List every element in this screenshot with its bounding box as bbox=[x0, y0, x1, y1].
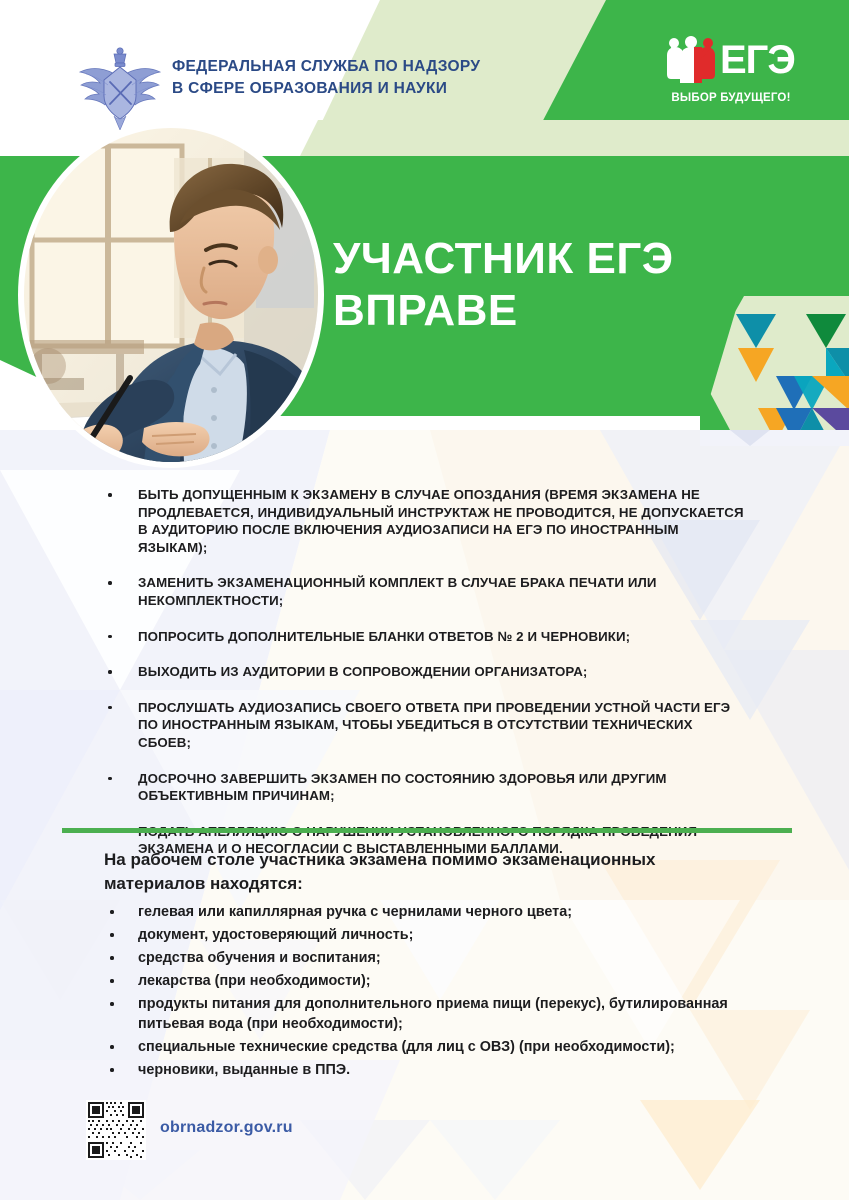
rights-list-item: ПОПРОСИТЬ ДОПОЛНИТЕЛЬНЫЕ БЛАНКИ ОТВЕТОВ … bbox=[104, 628, 744, 646]
triangle-mosaic-decoration bbox=[700, 296, 849, 446]
ege-figures-icon bbox=[665, 35, 717, 85]
ege-logo: ЕГЭ ВЫБОР БУДУЩЕГО! bbox=[665, 32, 797, 110]
desk-list-item: продукты питания для дополнительного при… bbox=[104, 994, 744, 1034]
rights-list-item: ЗАМЕНИТЬ ЭКЗАМЕНАЦИОННЫЙ КОМПЛЕКТ В СЛУЧ… bbox=[104, 574, 744, 609]
rosobrnadzor-emblem-icon bbox=[74, 38, 166, 130]
desk-list-item: черновики, выданные в ППЭ. bbox=[104, 1060, 744, 1080]
desk-list-item: документ, удостоверяющий личность; bbox=[104, 925, 744, 945]
desk-section-heading: На рабочем столе участника экзамена поми… bbox=[104, 848, 724, 896]
qr-code-icon[interactable] bbox=[86, 1100, 146, 1160]
rights-list-item: ДОСРОЧНО ЗАВЕРШИТЬ ЭКЗАМЕН ПО СОСТОЯНИЮ … bbox=[104, 770, 744, 805]
ege-wordmark: ЕГЭ bbox=[720, 40, 795, 80]
desk-list-item: средства обучения и воспитания; bbox=[104, 948, 744, 968]
desk-list-item: лекарства (при необходимости); bbox=[104, 971, 744, 991]
rights-list-item: ПРОСЛУШАТЬ АУДИОЗАПИСЬ СВОЕГО ОТВЕТА ПРИ… bbox=[104, 699, 744, 752]
agency-title: ФЕДЕРАЛЬНАЯ СЛУЖБА ПО НАДЗОРУ В СФЕРЕ ОБ… bbox=[172, 56, 480, 100]
rights-list-item: ВЫХОДИТЬ ИЗ АУДИТОРИИ В СОПРОВОЖДЕНИИ ОР… bbox=[104, 663, 744, 681]
poster-root: ФЕДЕРАЛЬНАЯ СЛУЖБА ПО НАДЗОРУ В СФЕРЕ ОБ… bbox=[0, 0, 849, 1200]
website-link[interactable]: obrnadzor.gov.ru bbox=[160, 1119, 293, 1137]
section-divider bbox=[62, 828, 792, 833]
rights-list-item: БЫТЬ ДОПУЩЕННЫМ К ЭКЗАМЕНУ В СЛУЧАЕ ОПОЗ… bbox=[104, 486, 744, 556]
rights-list: БЫТЬ ДОПУЩЕННЫМ К ЭКЗАМЕНУ В СЛУЧАЕ ОПОЗ… bbox=[104, 486, 744, 876]
student-photo bbox=[18, 122, 324, 468]
ege-tagline: ВЫБОР БУДУЩЕГО! bbox=[665, 92, 797, 104]
hero-title: УЧАСТНИК ЕГЭ ВПРАВЕ bbox=[333, 233, 674, 337]
desk-list-item: гелевая или капиллярная ручка с чернилам… bbox=[104, 902, 744, 922]
desk-list-item: специальные технические средства (для ли… bbox=[104, 1037, 744, 1057]
desk-items-list: гелевая или капиллярная ручка с чернилам… bbox=[104, 902, 744, 1083]
